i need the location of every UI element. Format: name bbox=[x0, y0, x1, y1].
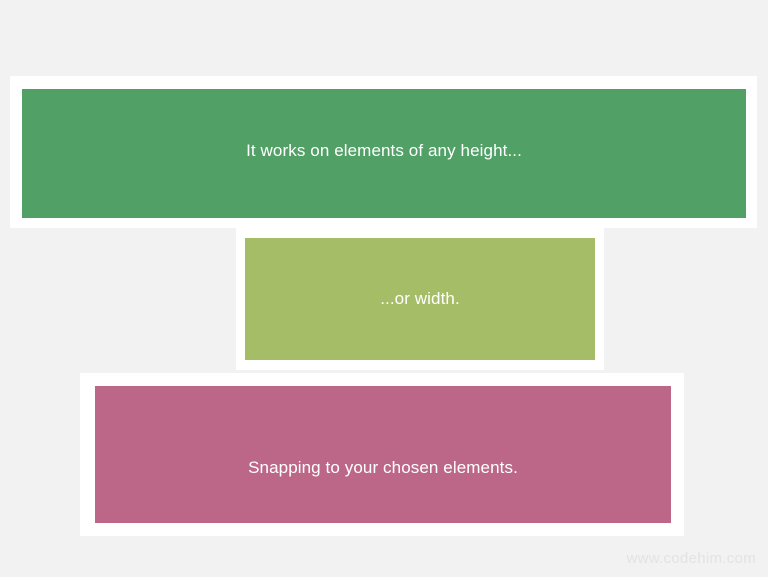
panel-block-width[interactable]: ...or width. bbox=[245, 238, 595, 360]
demo-stage: It works on elements of any height... ..… bbox=[0, 0, 768, 577]
panel-text-snap: Snapping to your chosen elements. bbox=[238, 457, 528, 479]
panel-block-snap[interactable]: Snapping to your chosen elements. bbox=[95, 386, 671, 523]
panel-block-height[interactable]: It works on elements of any height... bbox=[22, 89, 746, 218]
panel-text-height: It works on elements of any height... bbox=[236, 140, 532, 162]
watermark-label: www.codehim.com bbox=[626, 550, 756, 567]
panel-text-width: ...or width. bbox=[370, 288, 470, 310]
